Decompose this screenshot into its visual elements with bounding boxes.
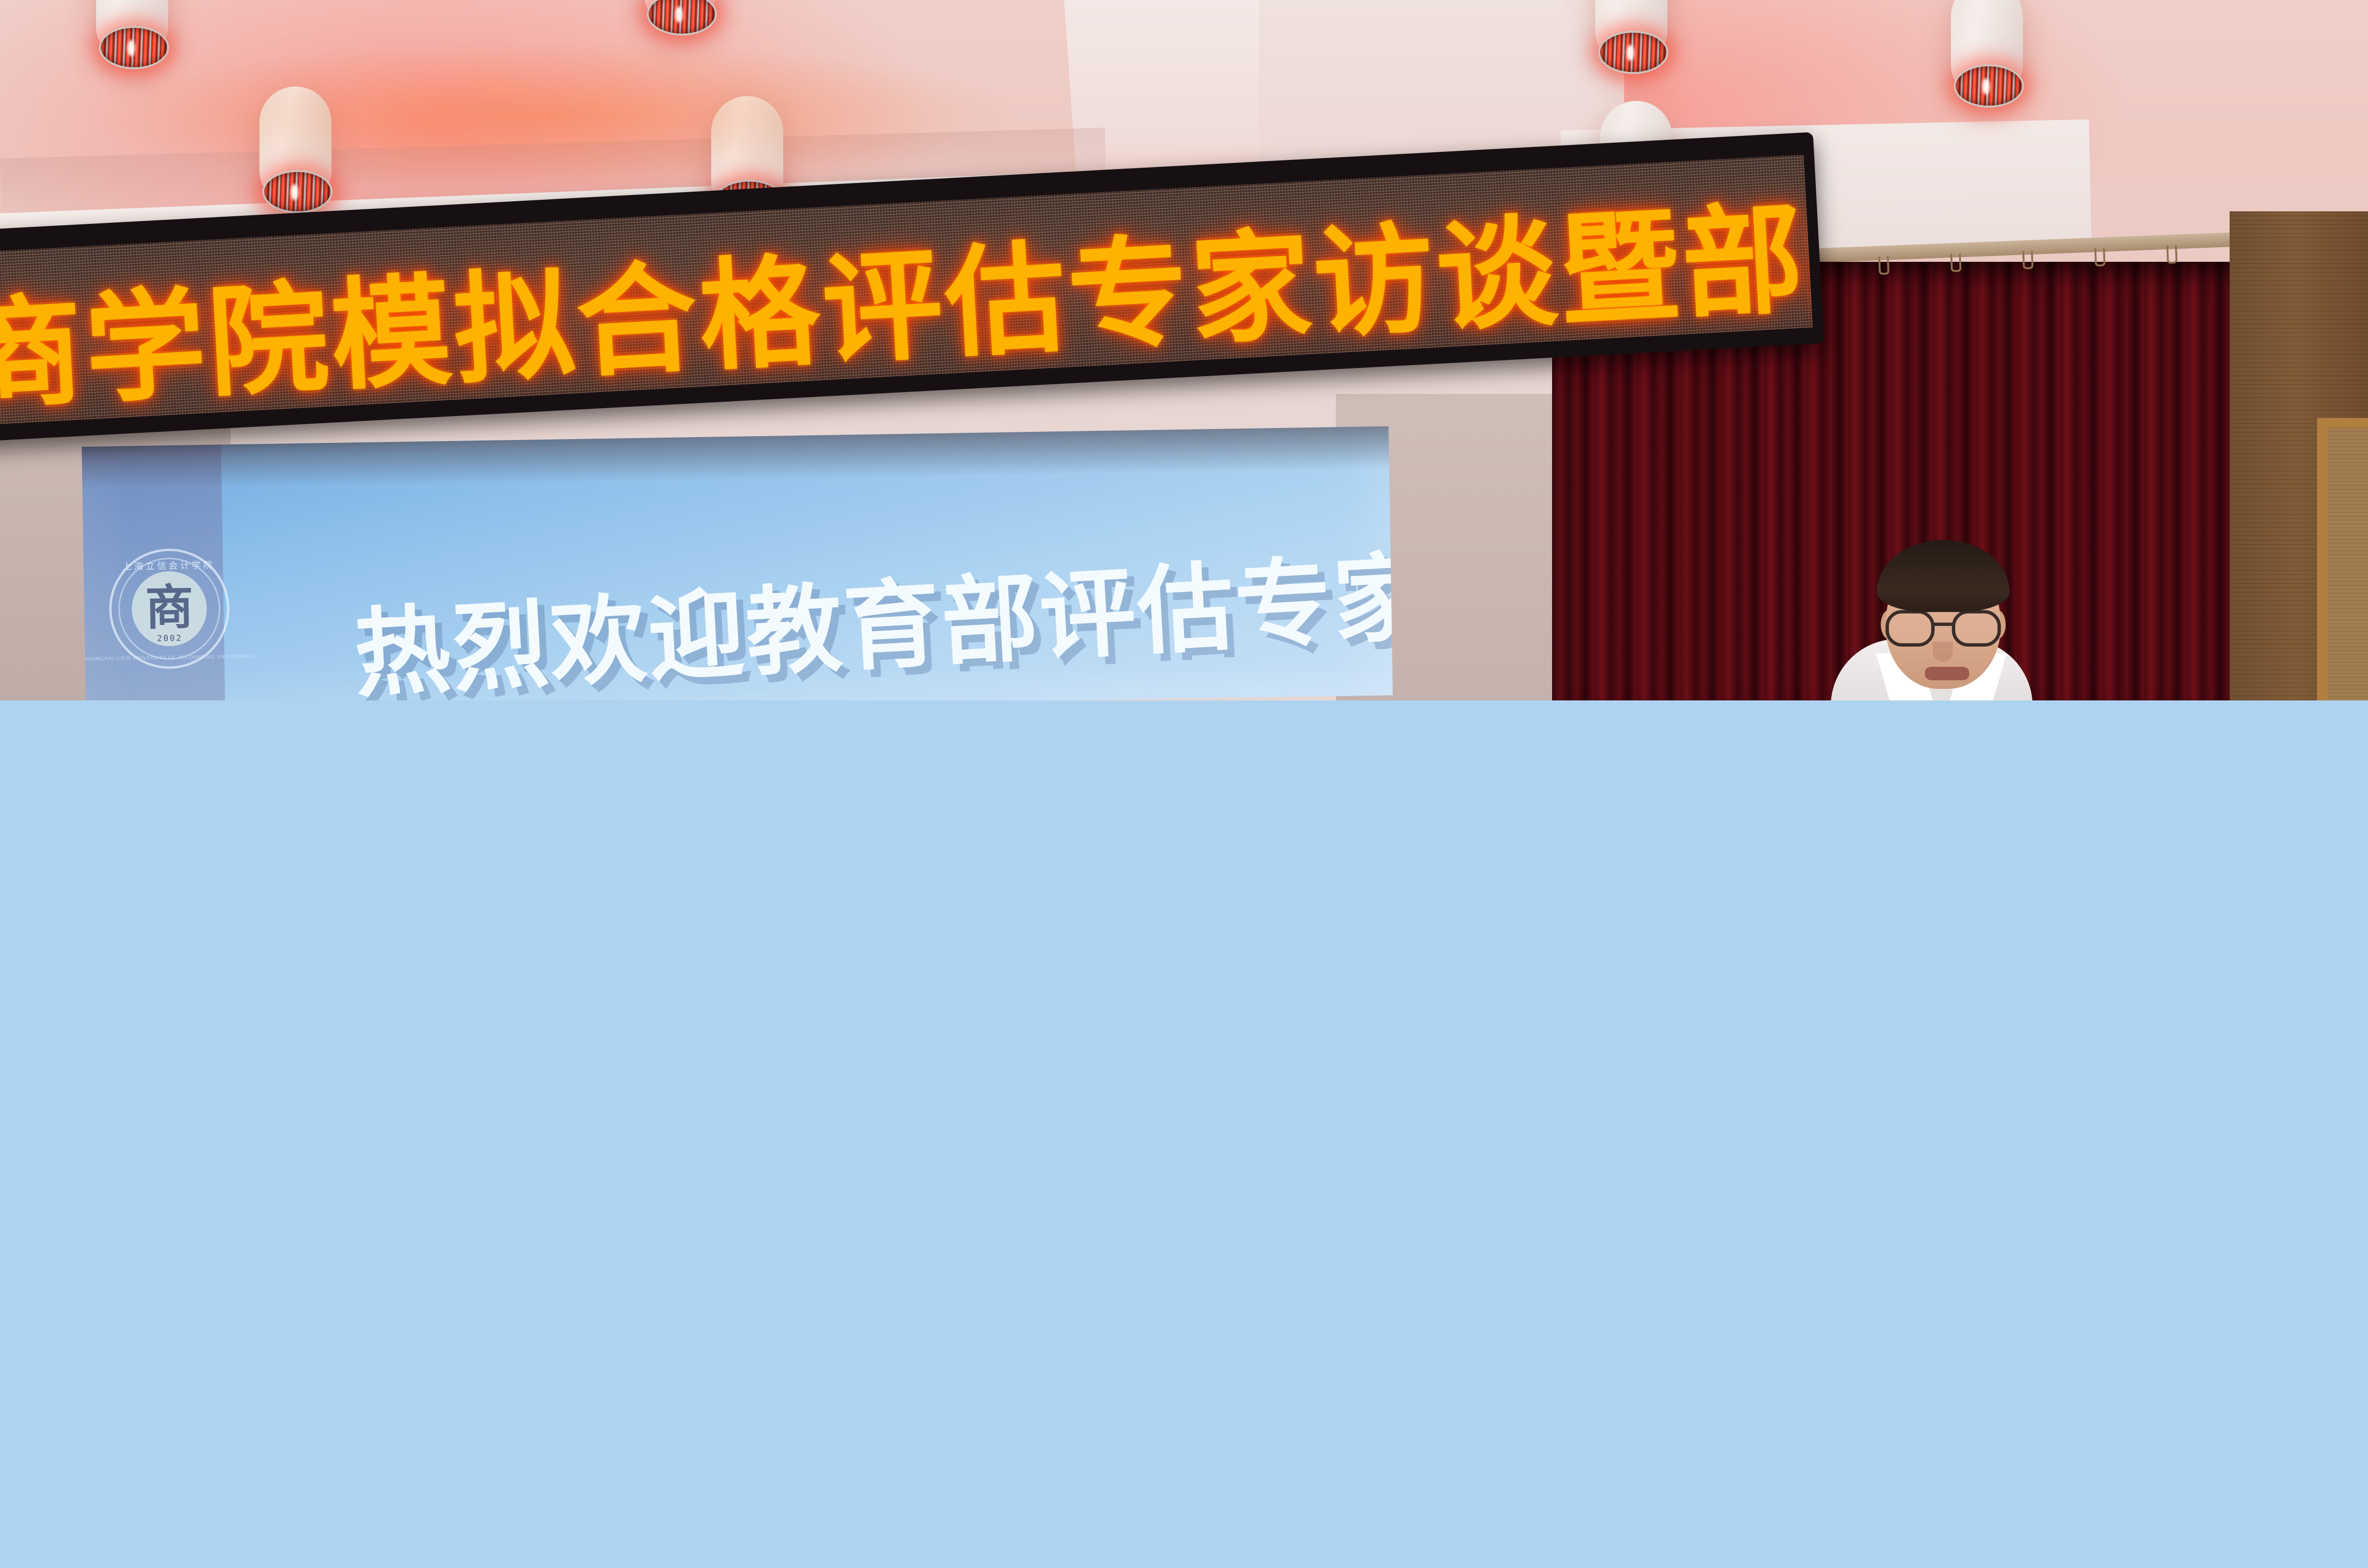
person-nose xyxy=(1933,642,1953,662)
glasses-bridge xyxy=(1934,623,1955,626)
person-mouth xyxy=(1925,667,1969,680)
auditorium-photo: 上海立信会计学院 商 2002 SHANGHAI LIXIN UNIVERSIT… xyxy=(0,0,2368,700)
person-hair xyxy=(1877,540,2010,612)
projection-screen: 上海立信会计学院 商 2002 SHANGHAI LIXIN UNIVERSIT… xyxy=(82,426,1393,700)
logo-founding-year: 2002 xyxy=(157,634,183,644)
speaker-person xyxy=(1845,538,2057,700)
screen-top-shadow xyxy=(82,426,1389,490)
slide-headline: 热烈欢迎教育部评估专家 xyxy=(352,549,1393,700)
wood-door-frame xyxy=(2317,418,2368,700)
spotlight-2-icon xyxy=(644,0,716,29)
spotlight-4-icon xyxy=(259,86,332,207)
screenshot-canvas: 上海立信会计学院 商 2002 SHANGHAI LIXIN UNIVERSIT… xyxy=(0,0,2368,1568)
spotlight-lens-icon xyxy=(262,170,333,213)
logo-center-mark: 商 xyxy=(145,583,194,632)
spotlight-lens-icon xyxy=(99,26,169,69)
spotlight-7-icon xyxy=(1951,0,2023,101)
glasses-lens-left xyxy=(1886,610,1935,647)
spotlight-lens-icon xyxy=(1954,64,2024,108)
logo-ring-text-cn: 上海立信会计学院 xyxy=(123,558,215,573)
spotlight-lens-icon xyxy=(1598,31,1668,74)
logo-ring-text-en: SHANGHAI LIXIN UNIVERSITY OF ACCOUNTING … xyxy=(85,654,256,662)
spotlight-5-icon xyxy=(1595,0,1667,67)
university-logo-icon: 上海立信会计学院 商 2002 SHANGHAI LIXIN UNIVERSIT… xyxy=(108,548,230,670)
person-glasses-icon xyxy=(1884,610,2004,647)
spotlight-1-icon xyxy=(96,0,168,62)
blue-fill-region xyxy=(0,700,2368,1568)
glasses-lens-right xyxy=(1952,610,2001,647)
